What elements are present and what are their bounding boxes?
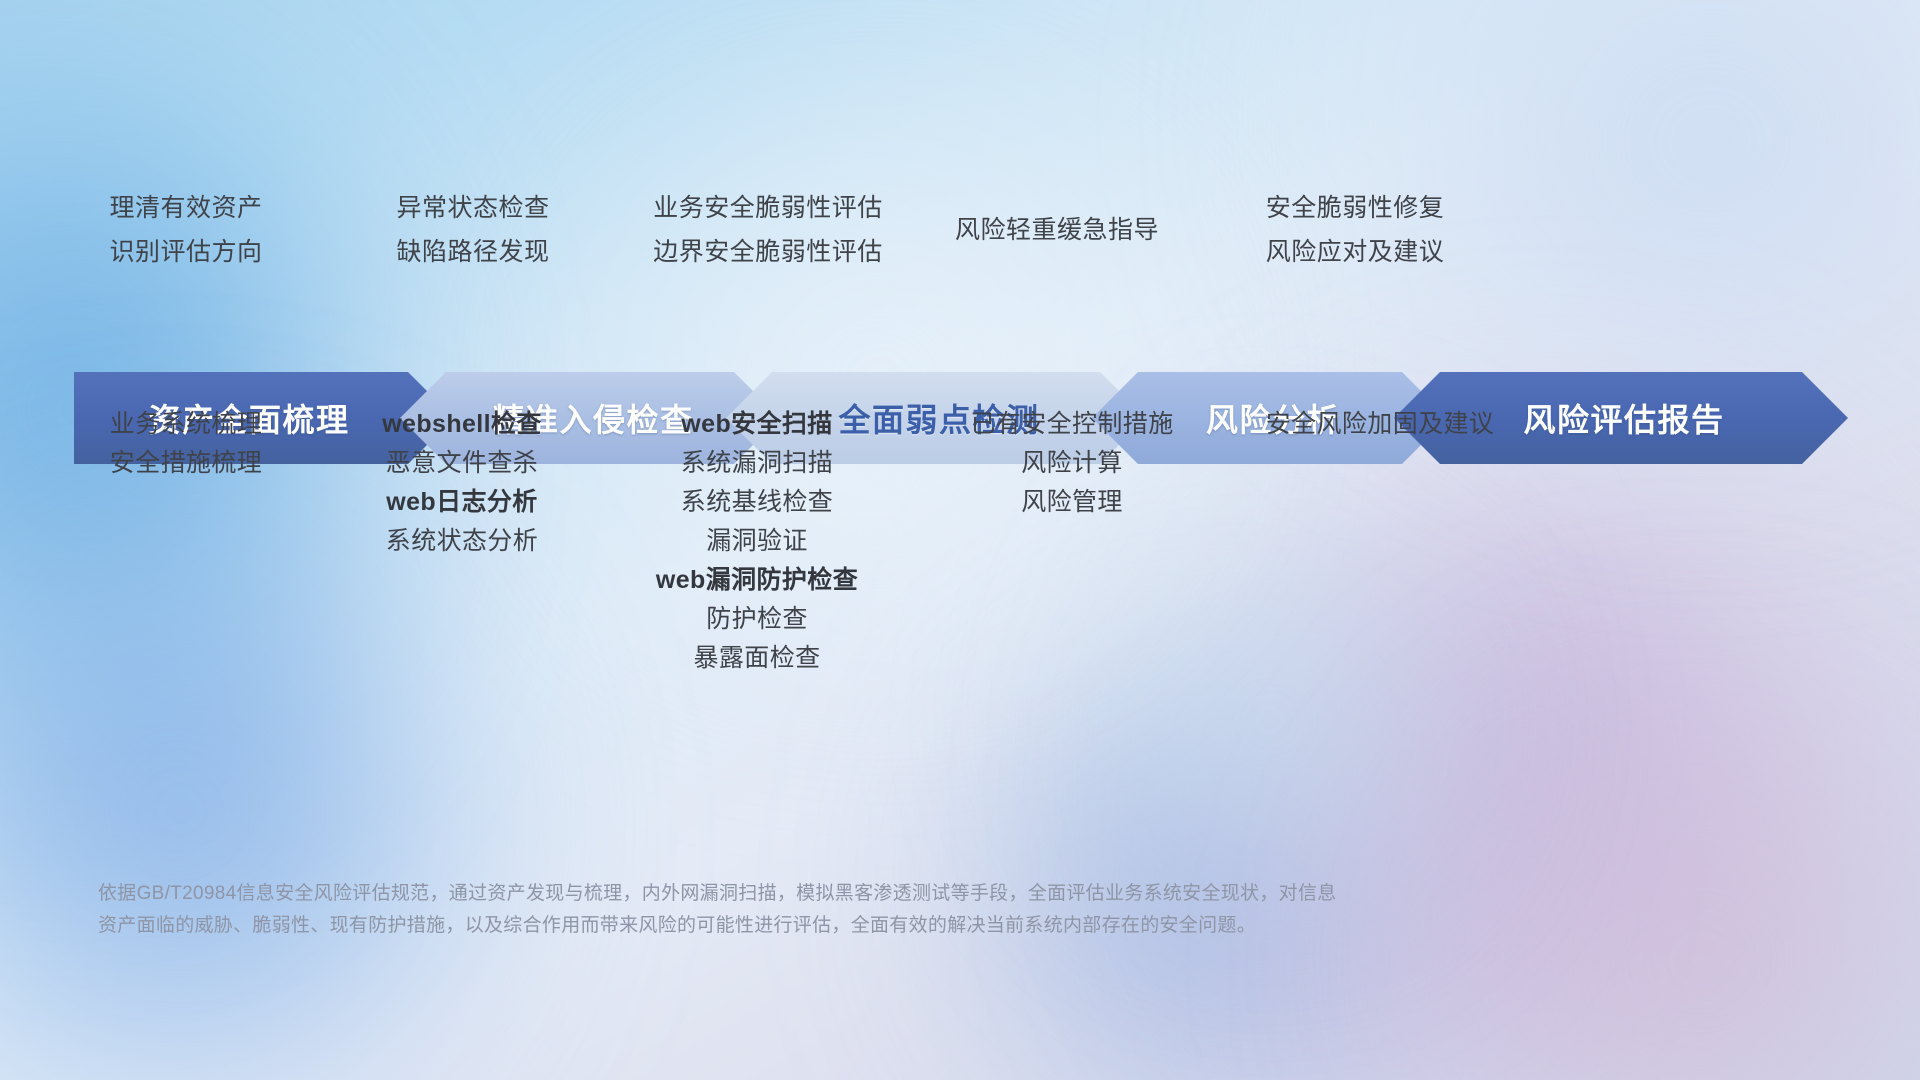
bottom-item: 防护检查 xyxy=(706,600,808,639)
footer-description: 依据GB/T20984信息安全风险评估规范，通过资产发现与梳理，内外网漏洞扫描，… xyxy=(98,878,1738,942)
bottom-list-intrusion-check: webshell检查恶意文件查杀web日志分析系统状态分析 xyxy=(382,405,542,561)
top-item: 安全脆弱性修复 xyxy=(1266,186,1445,230)
bottom-item: web漏洞防护检查 xyxy=(656,561,858,600)
bottom-item: 风险管理 xyxy=(1021,483,1123,522)
top-item: 风险应对及建议 xyxy=(1266,230,1445,274)
top-item: 理清有效资产 xyxy=(109,186,262,230)
bottom-item: 恶意文件查杀 xyxy=(386,444,538,483)
bottom-item: 安全措施梳理 xyxy=(110,444,262,483)
footer-line-1: 依据GB/T20984信息安全风险评估规范，通过资产发现与梳理，内外网漏洞扫描，… xyxy=(98,878,1738,910)
bottom-list-risk-analysis: 已有安全控制措施风险计算风险管理 xyxy=(970,405,1173,522)
bottom-list-risk-report: 安全风险加固及建议 xyxy=(1266,405,1495,444)
bottom-item: 安全风险加固及建议 xyxy=(1266,405,1495,444)
top-list-intrusion-check: 异常状态检查缺陷路径发现 xyxy=(396,186,549,274)
top-list-risk-analysis: 风险轻重缓急指导 xyxy=(955,186,1159,252)
top-item: 业务安全脆弱性评估 xyxy=(653,186,883,230)
footer-line-2: 资产面临的威胁、脆弱性、现有防护措施，以及综合作用而带来风险的可能性进行评估，全… xyxy=(98,910,1738,942)
bottom-item: 已有安全控制措施 xyxy=(970,405,1173,444)
bottom-item: 暴露面检查 xyxy=(693,639,820,678)
top-item: 风险轻重缓急指导 xyxy=(955,208,1159,252)
process-chevron-banner: 资产全面梳理精准入侵检查全面弱点检测风险分析风险评估报告 xyxy=(74,372,1848,464)
top-item: 边界安全脆弱性评估 xyxy=(653,230,883,274)
bottom-list-weakness-detection: web安全扫描系统漏洞扫描系统基线检查漏洞验证web漏洞防护检查防护检查暴露面检… xyxy=(656,405,858,678)
bottom-item: 系统状态分析 xyxy=(386,522,538,561)
top-list-asset-inventory: 理清有效资产识别评估方向 xyxy=(109,186,262,274)
top-item: 缺陷路径发现 xyxy=(396,230,549,274)
bottom-item: web安全扫描 xyxy=(681,405,832,444)
bottom-item: 业务系统梳理 xyxy=(110,405,262,444)
bottom-item: web日志分析 xyxy=(386,483,537,522)
top-list-risk-report: 安全脆弱性修复风险应对及建议 xyxy=(1266,186,1445,274)
bottom-item: 系统基线检查 xyxy=(681,483,833,522)
top-item: 异常状态检查 xyxy=(396,186,549,230)
bottom-list-asset-inventory: 业务系统梳理安全措施梳理 xyxy=(110,405,262,483)
stage-label-risk-report: 风险评估报告 xyxy=(1523,395,1724,441)
top-list-weakness-detection: 业务安全脆弱性评估边界安全脆弱性评估 xyxy=(653,186,883,274)
bottom-item: 系统漏洞扫描 xyxy=(681,444,833,483)
bottom-item: webshell检查 xyxy=(382,405,542,444)
bottom-item: 漏洞验证 xyxy=(706,522,808,561)
bottom-item: 风险计算 xyxy=(1021,444,1123,483)
top-item: 识别评估方向 xyxy=(109,230,262,274)
